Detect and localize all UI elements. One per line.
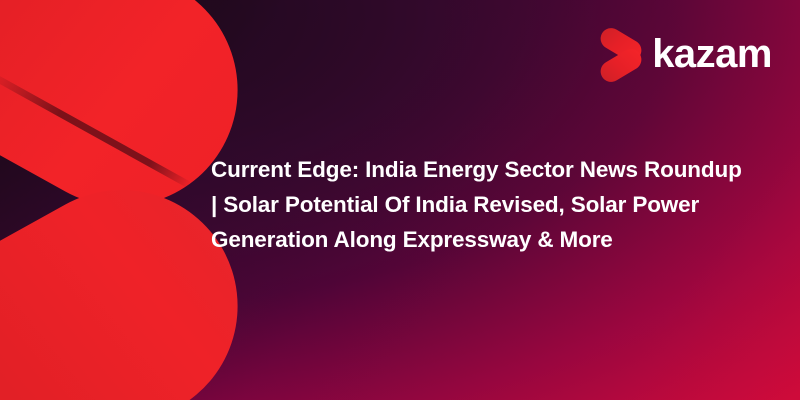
article-banner: kazam Current Edge: India Energy Sector …	[0, 0, 800, 400]
article-headline: Current Edge: India Energy Sector News R…	[211, 152, 751, 257]
kazam-logo[interactable]: kazam	[599, 26, 772, 82]
kazam-wordmark: kazam	[652, 34, 772, 74]
kazam-chevron-icon	[599, 29, 641, 79]
